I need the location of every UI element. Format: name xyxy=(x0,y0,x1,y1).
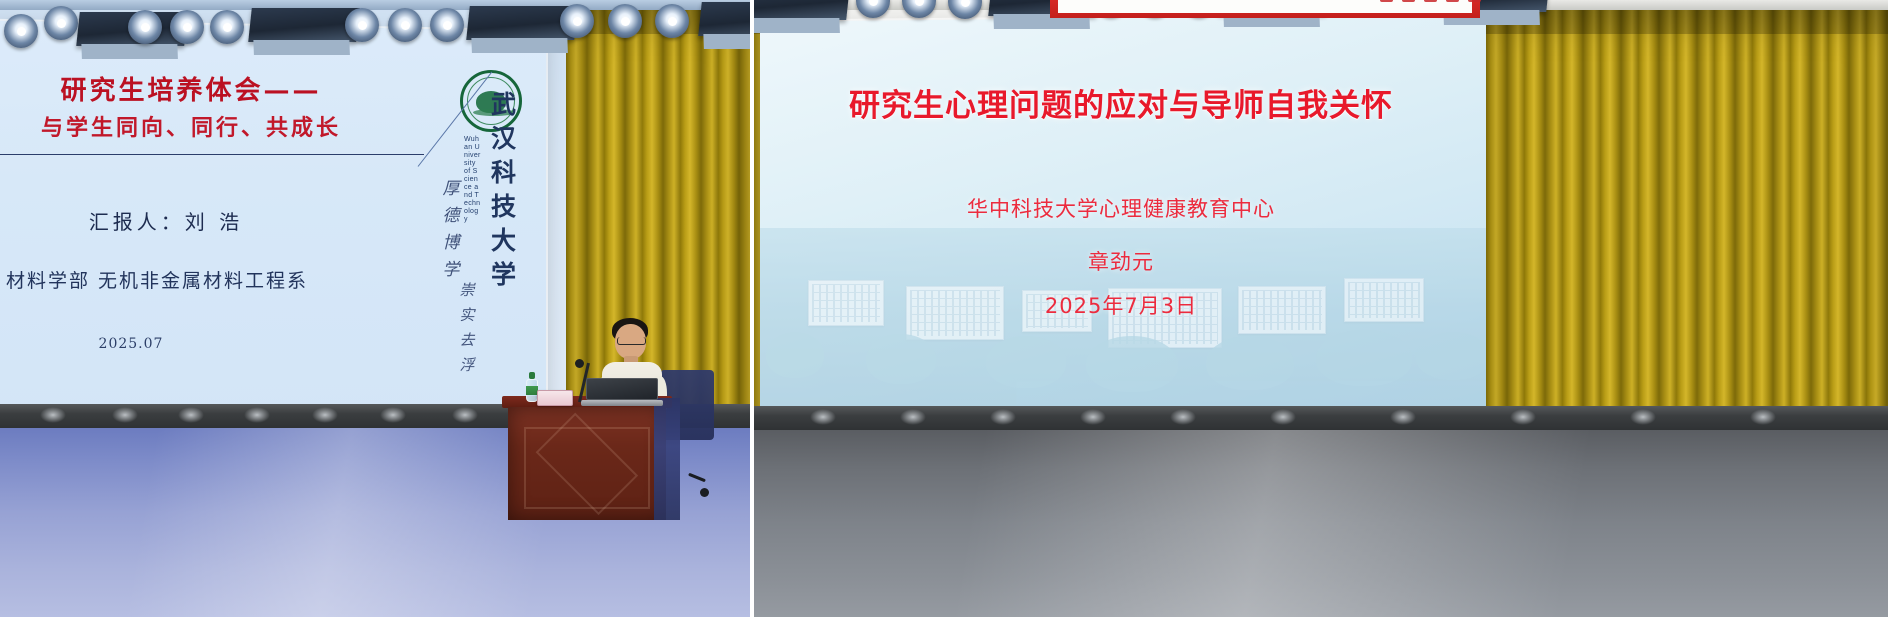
slide-title-line2: 与学生同向、同行、共成长 xyxy=(0,110,396,142)
slide-organization: 华中科技大学心理健康教育中心 xyxy=(756,193,1486,223)
slide-divider-rule xyxy=(0,154,424,155)
stage-light-icon xyxy=(4,14,38,48)
university-english-name: Wuhan University of Science and Technolo… xyxy=(464,136,481,224)
slide-title: 研究生心理问题的应对与导师自我关怀 xyxy=(756,80,1486,125)
university-motto-line2: 崇实去浮 xyxy=(454,278,480,378)
stage-light-panel-icon xyxy=(248,8,360,42)
laptop xyxy=(586,378,658,406)
lighting-truss-left xyxy=(0,0,750,46)
stage-edge-right xyxy=(750,406,1888,430)
university-motto-line1: 厚德博学 xyxy=(438,176,464,284)
stage-light-icon xyxy=(856,0,890,18)
stage-light-icon xyxy=(170,10,204,44)
stage-light-icon xyxy=(902,0,936,18)
stage-light-icon xyxy=(345,8,379,42)
stage-light-panel-icon xyxy=(750,0,850,20)
stage-light-icon xyxy=(948,0,982,19)
projection-screen-right: 研究生心理问题的应对与导师自我关怀 华中科技大学心理健康教育中心 章劲元 202… xyxy=(756,14,1486,422)
red-banner xyxy=(1050,0,1480,18)
campus-background-image xyxy=(756,148,1486,418)
slide-right: 研究生心理问题的应对与导师自我关怀 华中科技大学心理健康教育中心 章劲元 202… xyxy=(756,18,1486,418)
stage-light-icon xyxy=(210,10,244,44)
slide-department-line: 材料学部 无机非金属材料工程系 xyxy=(6,266,308,293)
podium-left xyxy=(502,396,672,520)
slide-date: 2025年7月3日 xyxy=(756,290,1486,320)
stage-light-icon xyxy=(430,8,464,42)
stage-light-icon xyxy=(560,4,594,38)
slide-left: 研究生培养体会—— 与学生同向、同行、共成长 汇报人：刘 浩 材料学部 无机非金… xyxy=(0,26,546,416)
cable xyxy=(700,488,709,497)
stage-light-icon xyxy=(608,4,642,38)
stage-light-panel-icon xyxy=(698,2,750,36)
slide-title-line1: 研究生培养体会—— xyxy=(0,70,396,107)
name-plate: ​ xyxy=(537,390,573,406)
stage-light-icon xyxy=(128,10,162,44)
left-photo-panel: 研究生培养体会—— 与学生同向、同行、共成长 汇报人：刘 浩 材料学部 无机非金… xyxy=(0,0,750,617)
dual-photo-composite: 研究生培养体会—— 与学生同向、同行、共成长 汇报人：刘 浩 材料学部 无机非金… xyxy=(0,0,1888,617)
stage-light-icon xyxy=(44,6,78,40)
slide-presenter-name: 章劲元 xyxy=(756,246,1486,276)
slide-presenter-line: 汇报人：刘 浩 xyxy=(0,206,346,235)
stage-light-icon xyxy=(655,4,689,38)
stage-floor-right xyxy=(750,430,1888,617)
stage-light-icon xyxy=(388,8,422,42)
slide-date-line: 2025.07 xyxy=(0,336,276,352)
right-photo-panel: 研究生心理问题的应对与导师自我关怀 华中科技大学心理健康教育中心 章劲元 202… xyxy=(750,0,1888,617)
projection-screen-left: 研究生培养体会—— 与学生同向、同行、共成长 汇报人：刘 浩 材料学部 无机非金… xyxy=(0,21,546,422)
microphone xyxy=(578,362,588,402)
university-chinese-name: 武汉科技大学 xyxy=(483,88,525,292)
glasses-icon xyxy=(617,337,646,345)
panel-divider xyxy=(750,0,754,617)
podium-cloth xyxy=(654,398,680,520)
